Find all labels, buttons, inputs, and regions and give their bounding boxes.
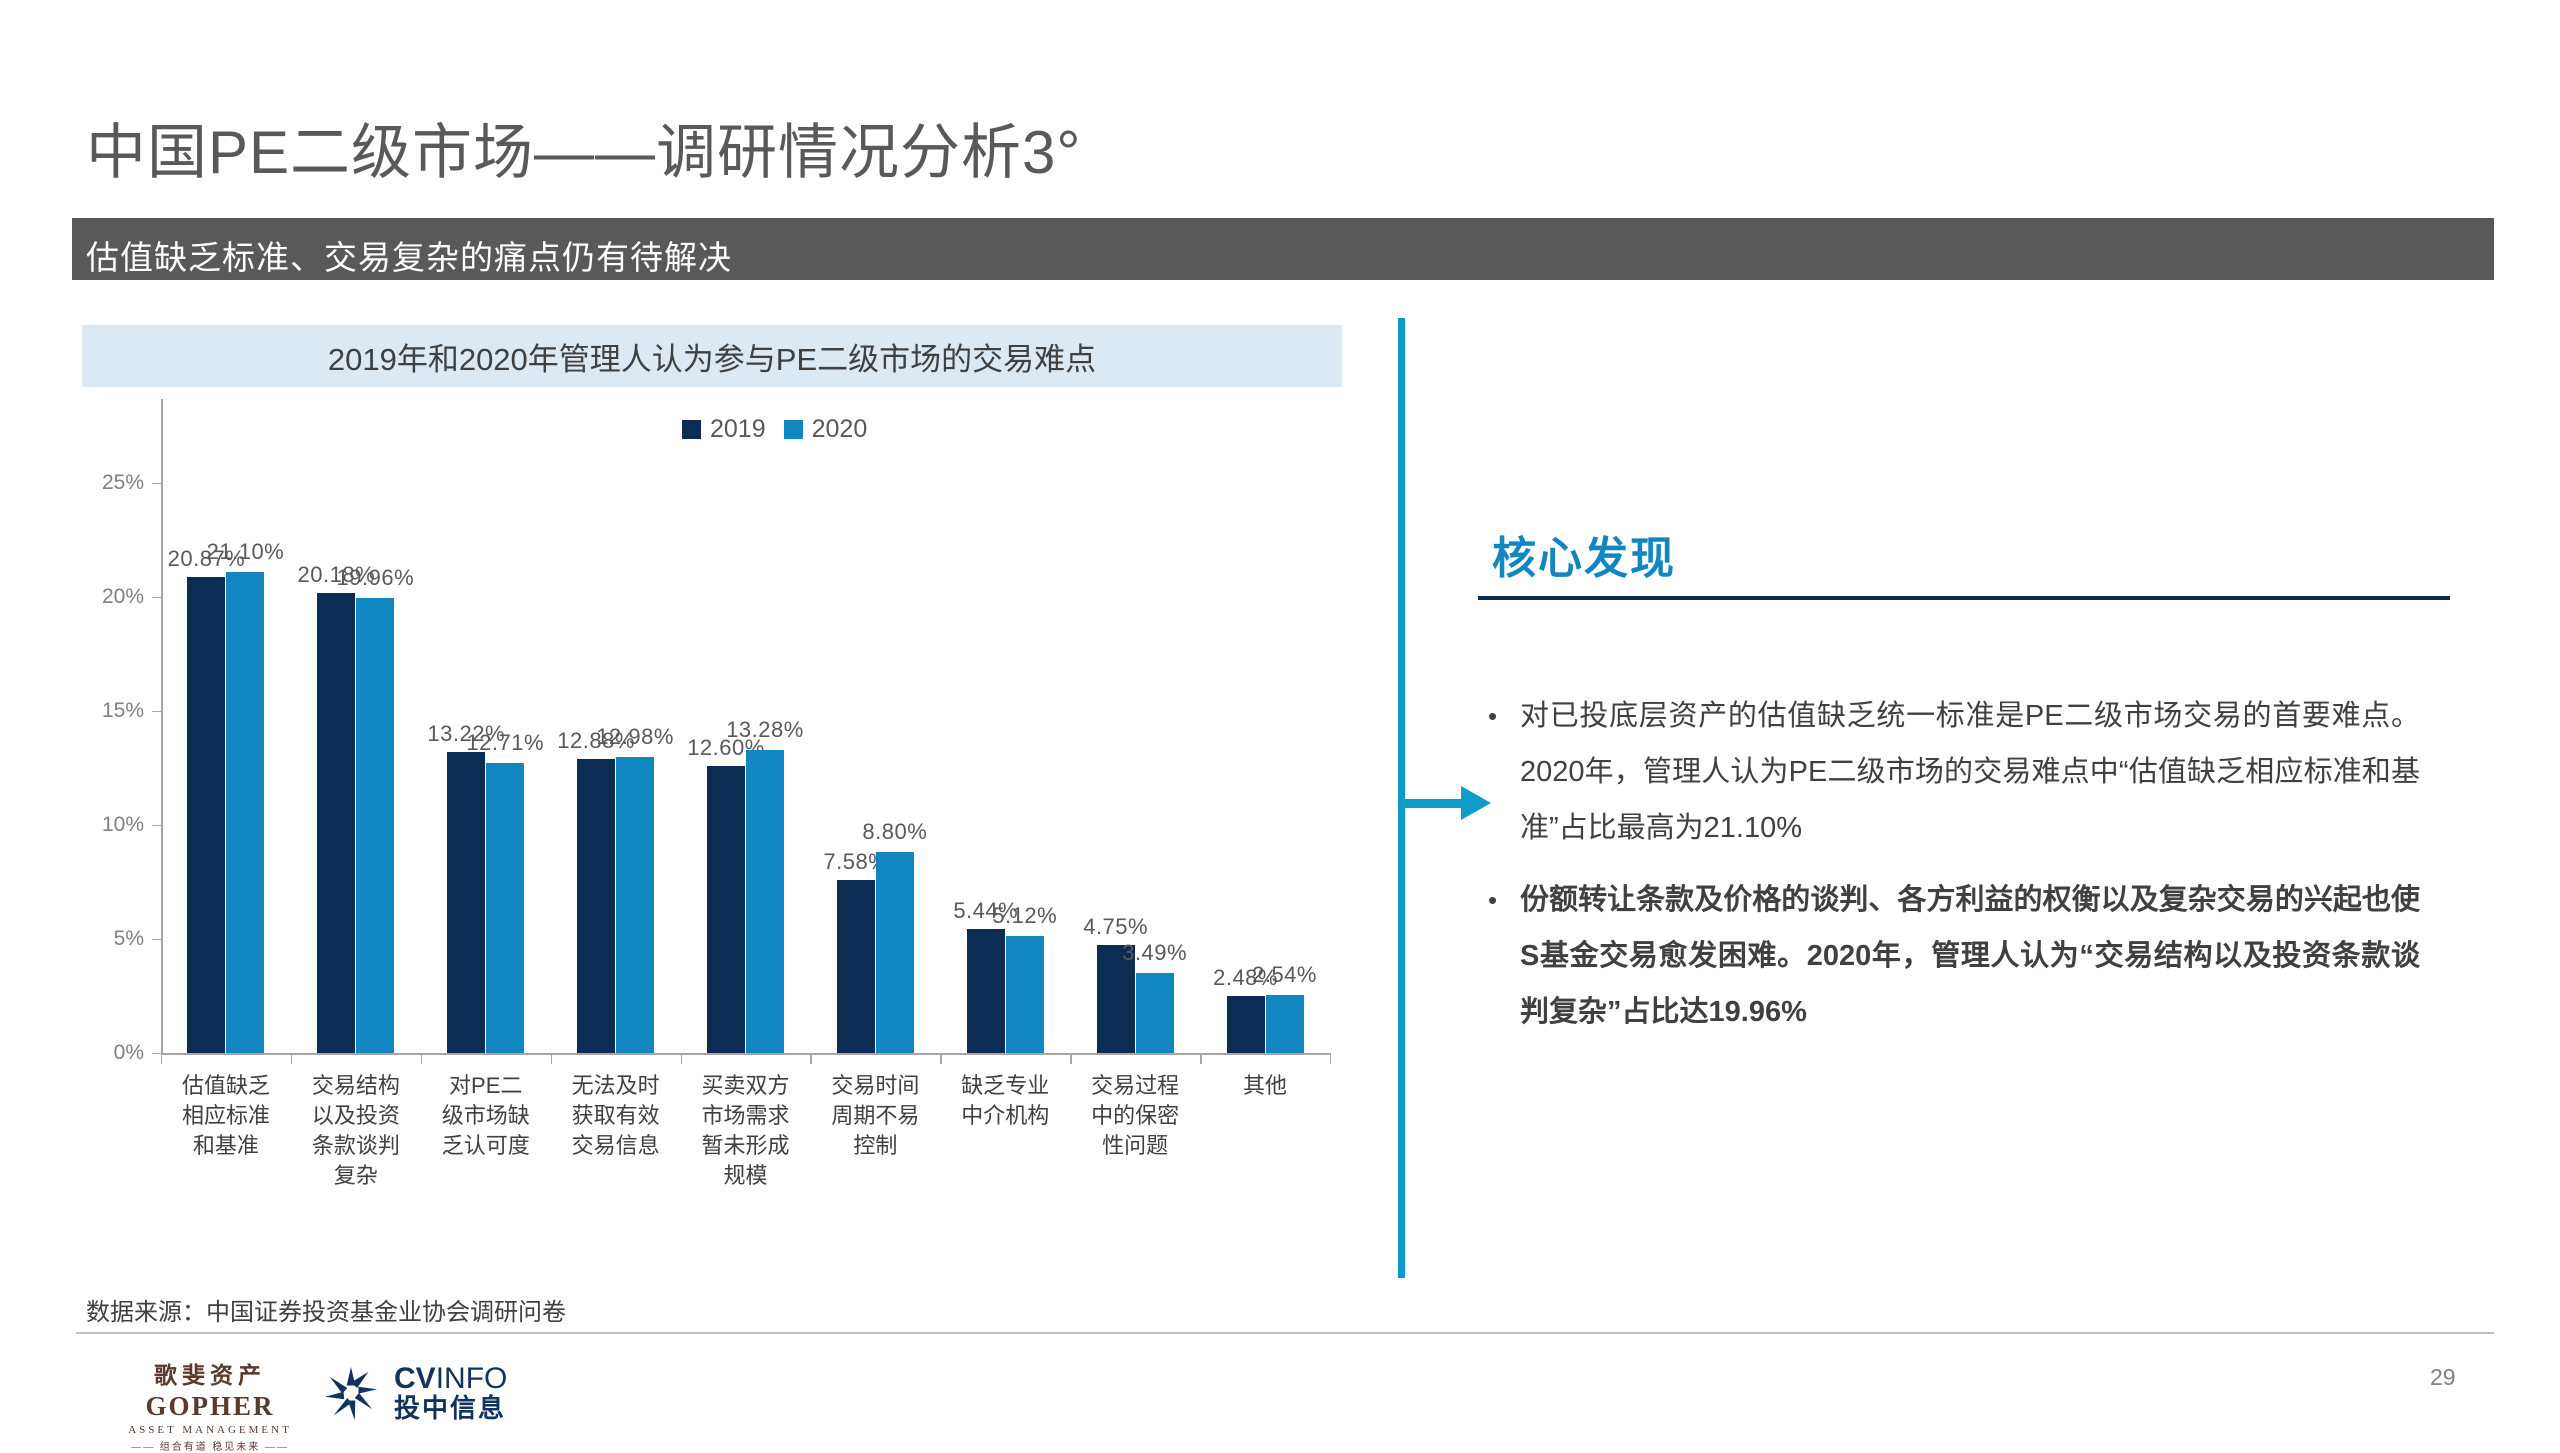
bar-data-label: 5.12% xyxy=(992,903,1057,929)
chart-title: 2019年和2020年管理人认为参与PE二级市场的交易难点 xyxy=(82,325,1342,387)
bar-group: 20.87%21.10% xyxy=(187,572,265,1053)
bar-data-label: 3.49% xyxy=(1122,940,1187,966)
y-axis-tick xyxy=(152,597,161,598)
bar-group: 13.22%12.71% xyxy=(447,752,525,1053)
bar-data-label: 19.96% xyxy=(337,565,415,591)
bar-2020[interactable]: 19.96% xyxy=(356,598,394,1053)
arrow-right-head-icon xyxy=(1461,786,1491,820)
chart-legend: 2019 2020 xyxy=(682,415,867,444)
legend-item-2019[interactable]: 2019 xyxy=(682,415,766,444)
cvinfo-info: INFO xyxy=(436,1362,508,1395)
finding-text-1: 对已投底层资产的估值缺乏统一标准是PE二级市场交易的首要难点。2020年，管理人… xyxy=(1520,688,2420,856)
bar-group: 12.88%12.98% xyxy=(577,757,655,1053)
source-note: 数据来源：中国证券投资基金业协会调研问卷 xyxy=(86,1292,566,1327)
bar-data-label: 12.71% xyxy=(466,730,544,756)
legend-label-2020: 2020 xyxy=(812,415,868,444)
y-axis-line xyxy=(161,399,163,1053)
gopher-logo-en: GOPHER xyxy=(120,1391,300,1422)
bar-data-label: 8.80% xyxy=(862,819,927,845)
y-axis-tick xyxy=(152,1053,161,1054)
y-axis-tick xyxy=(152,483,161,484)
cvinfo-logo: CVINFO 投中信息 xyxy=(320,1362,507,1424)
gopher-logo: 歌斐资产 GOPHER ASSET MANAGEMENT —— 组合有道 稳见未… xyxy=(120,1356,300,1453)
cvinfo-logo-en: CVINFO xyxy=(394,1363,507,1395)
x-axis-line xyxy=(161,1053,1330,1055)
bar-2019[interactable]: 7.58% xyxy=(837,880,875,1053)
y-axis-tick-label: 15% xyxy=(74,699,144,723)
x-axis-tick xyxy=(161,1053,162,1064)
x-axis-category-label: 估值缺乏相应标准和基准 xyxy=(182,1071,270,1161)
bar-group: 5.44%5.12% xyxy=(966,929,1044,1053)
y-axis-tick xyxy=(152,711,161,712)
page-title: 中国PE二级市场——调研情况分析3° xyxy=(86,104,1081,191)
x-axis-tick xyxy=(810,1053,811,1064)
bar-data-label: 13.28% xyxy=(726,717,804,743)
bar-data-label: 4.75% xyxy=(1083,914,1148,940)
bar-2019[interactable]: 20.18% xyxy=(317,593,355,1053)
subtitle-text: 估值缺乏标准、交易复杂的痛点仍有待解决 xyxy=(86,231,732,279)
legend-swatch-2019 xyxy=(682,420,701,439)
cvinfo-burst-icon xyxy=(320,1362,382,1424)
bar-data-label: 2.54% xyxy=(1252,962,1317,988)
bar-2020[interactable]: 3.49% xyxy=(1136,973,1174,1053)
bar-2019[interactable]: 5.44% xyxy=(967,929,1005,1053)
bullet-marker: • xyxy=(1488,688,1520,744)
bar-2019[interactable]: 13.22% xyxy=(447,752,485,1053)
x-axis-category-label: 交易过程中的保密性问题 xyxy=(1091,1071,1179,1161)
page-number: 29 xyxy=(2430,1364,2456,1391)
legend-swatch-2020 xyxy=(784,420,803,439)
findings-heading: 核心发现 xyxy=(1492,522,1676,586)
y-axis-tick-label: 0% xyxy=(74,1041,144,1065)
cvinfo-cv: CV xyxy=(394,1362,436,1395)
bullet-marker: • xyxy=(1488,872,1520,928)
x-axis-tick xyxy=(1070,1053,1071,1064)
chart-panel: 2019年和2020年管理人认为参与PE二级市场的交易难点 2019 2020 … xyxy=(82,325,1380,1305)
x-axis-tick xyxy=(681,1053,682,1064)
x-axis-tick xyxy=(1200,1053,1201,1064)
x-axis-category-label: 交易时间周期不易控制 xyxy=(831,1071,919,1161)
legend-label-2019: 2019 xyxy=(710,415,766,444)
x-axis-tick xyxy=(421,1053,422,1064)
bar-2020[interactable]: 2.54% xyxy=(1266,995,1304,1053)
bar-2020[interactable]: 21.10% xyxy=(226,572,264,1053)
finding-bullet-1: • 对已投底层资产的估值缺乏统一标准是PE二级市场交易的首要难点。2020年，管… xyxy=(1488,688,2420,856)
x-axis-tick xyxy=(551,1053,552,1064)
bar-group: 4.75%3.49% xyxy=(1096,945,1174,1053)
y-axis-tick xyxy=(152,825,161,826)
bar-group: 12.60%13.28% xyxy=(707,750,785,1053)
x-axis-category-label: 缺乏专业中介机构 xyxy=(961,1071,1049,1131)
vertical-divider xyxy=(1398,318,1405,1278)
cvinfo-logo-cn: 投中信息 xyxy=(394,1394,507,1423)
y-axis-tick-label: 20% xyxy=(74,585,144,609)
bar-group: 7.58%8.80% xyxy=(836,852,914,1053)
y-axis-tick xyxy=(152,939,161,940)
gopher-logo-sub: ASSET MANAGEMENT xyxy=(120,1424,300,1436)
finding-bullet-2: • 份额转让条款及价格的谈判、各方利益的权衡以及复杂交易的兴起也使S基金交易愈发… xyxy=(1488,872,2420,1040)
chart-plot-area: 2019 2020 0%5%10%15%20%25% 估值缺乏相应标准和基准交易… xyxy=(82,393,1380,1143)
gopher-logo-cn: 歌斐资产 xyxy=(120,1356,300,1390)
bar-2019[interactable]: 2.48% xyxy=(1227,996,1265,1053)
bar-2020[interactable]: 8.80% xyxy=(876,852,914,1053)
bar-2020[interactable]: 12.98% xyxy=(616,757,654,1053)
y-axis-tick-label: 5% xyxy=(74,927,144,951)
y-axis-tick-label: 25% xyxy=(74,471,144,495)
x-axis-tick xyxy=(940,1053,941,1064)
footer-divider xyxy=(76,1332,2494,1334)
x-axis-category-label: 交易结构以及投资条款谈判复杂 xyxy=(312,1071,400,1191)
x-axis-tick xyxy=(1330,1053,1331,1064)
bar-2020[interactable]: 5.12% xyxy=(1006,936,1044,1053)
bar-2020[interactable]: 12.71% xyxy=(486,763,524,1053)
finding-text-2: 份额转让条款及价格的谈判、各方利益的权衡以及复杂交易的兴起也使S基金交易愈发困难… xyxy=(1520,872,2420,1040)
gopher-logo-tagline: —— 组合有道 稳见未来 —— xyxy=(120,1438,300,1453)
x-axis-category-label: 无法及时获取有效交易信息 xyxy=(572,1071,660,1161)
x-axis-category-label: 对PE二级市场缺乏认可度 xyxy=(442,1071,530,1161)
legend-item-2020[interactable]: 2020 xyxy=(784,415,868,444)
bar-data-label: 12.98% xyxy=(596,724,674,750)
bar-group: 2.48%2.54% xyxy=(1226,995,1304,1053)
bar-2020[interactable]: 13.28% xyxy=(746,750,784,1053)
arrow-right-icon xyxy=(1405,799,1467,808)
bar-2019[interactable]: 12.60% xyxy=(707,766,745,1053)
x-axis-category-label: 买卖双方市场需求暂未形成规模 xyxy=(702,1071,790,1191)
x-axis-category-label: 其他 xyxy=(1221,1071,1309,1101)
bar-data-label: 21.10% xyxy=(207,539,285,565)
bar-2019[interactable]: 20.87% xyxy=(187,577,225,1053)
x-axis-tick xyxy=(291,1053,292,1064)
y-axis-tick-label: 10% xyxy=(74,813,144,837)
bar-2019[interactable]: 12.88% xyxy=(577,759,615,1053)
bar-group: 20.18%19.96% xyxy=(317,593,395,1053)
findings-underline xyxy=(1478,596,2450,600)
